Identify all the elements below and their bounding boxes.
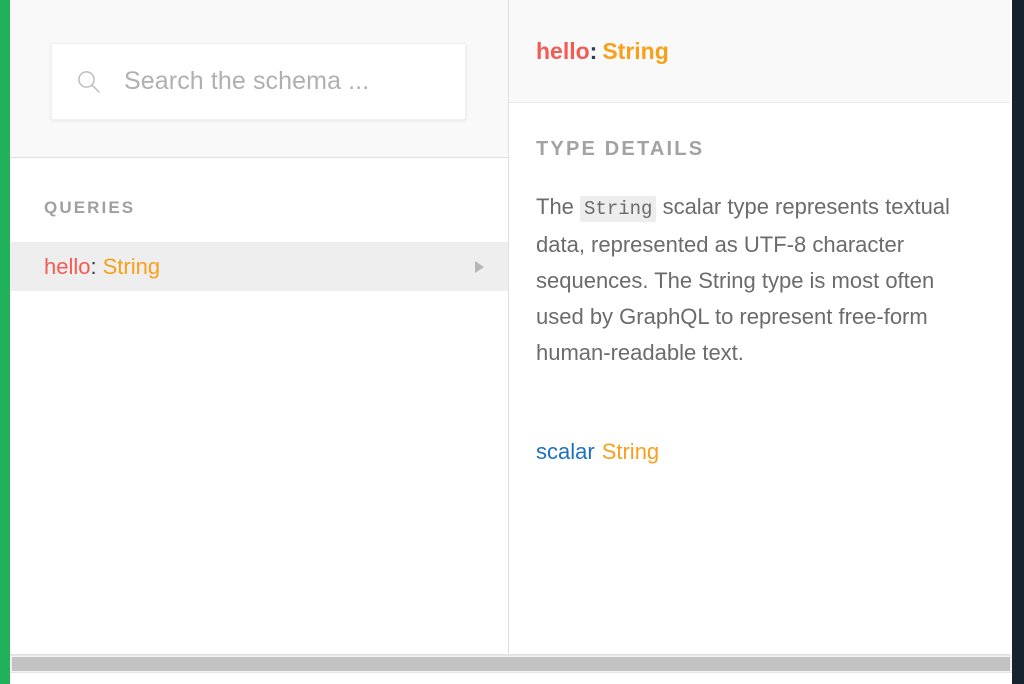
docs-detail-panel: hello:String TYPE DETAILS The String sca… <box>509 0 1012 684</box>
search-placeholder-text: Search the schema ... <box>124 67 369 96</box>
field-separator: : <box>90 254 96 280</box>
detail-header: hello:String <box>509 0 1011 103</box>
graphql-docs-explorer: Search the schema ... QUERIES hello : St… <box>0 0 1024 684</box>
type-signature: scalarString <box>536 439 984 465</box>
description-before: The <box>536 194 580 219</box>
horizontal-scrollbar[interactable] <box>10 655 1012 673</box>
explorer-shell: Search the schema ... QUERIES hello : St… <box>10 0 1012 684</box>
right-accent-rail <box>1012 0 1024 684</box>
detail-body: TYPE DETAILS The String scalar type repr… <box>509 103 1011 465</box>
triangle-right-icon <box>475 261 484 273</box>
search-icon <box>76 69 102 95</box>
field-name: hello <box>44 254 90 280</box>
signature-type-string[interactable]: String <box>602 439 659 464</box>
category-title: QUERIES <box>44 198 508 218</box>
type-description: The String scalar type represents textua… <box>536 189 966 371</box>
page-title: hello:String <box>536 38 669 65</box>
left-accent-rail <box>0 0 10 684</box>
list-item-hello[interactable]: hello : String <box>10 242 508 291</box>
section-heading-type-details: TYPE DETAILS <box>536 138 984 161</box>
docs-field-list: hello : String <box>10 242 508 291</box>
search-section: Search the schema ... <box>10 0 508 158</box>
detail-field-type[interactable]: String <box>602 38 668 64</box>
inline-code-string: String <box>580 196 656 222</box>
detail-field-name: hello <box>536 38 590 64</box>
keyword-scalar: scalar <box>536 439 595 464</box>
field-type[interactable]: String <box>103 254 160 280</box>
docs-category-queries: QUERIES <box>10 158 508 218</box>
docs-sidebar-panel: Search the schema ... QUERIES hello : St… <box>10 0 509 684</box>
scrollbar-thumb[interactable] <box>12 657 1010 671</box>
detail-separator: : <box>590 38 598 64</box>
search-input[interactable]: Search the schema ... <box>51 43 466 120</box>
bottom-filler <box>10 673 1012 684</box>
